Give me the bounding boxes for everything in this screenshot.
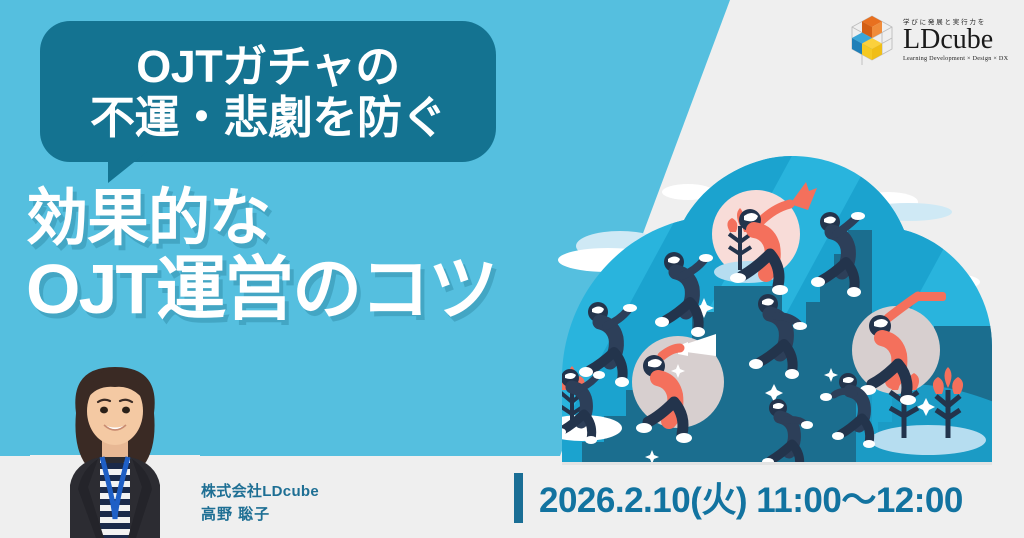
ldcube-logo: 学びに発展と実行力を LDcube Learning Development ×… <box>846 8 1008 70</box>
speech-bubble-text: OJTガチャの 不運・悲劇を防ぐ <box>40 21 496 162</box>
accent-rule <box>514 473 523 523</box>
banner-canvas: OJTガチャの 不運・悲劇を防ぐ 効果的な OJT運営のコツ <box>0 0 1024 538</box>
bubble-line-2: 不運・悲劇を防ぐ <box>90 95 446 140</box>
ldcube-logo-text: 学びに発展と実行力を LDcube Learning Development ×… <box>903 16 1008 63</box>
presenter-company: 株式会社LDcube <box>201 480 319 503</box>
ldcube-cube-logo-icon <box>846 13 898 65</box>
bubble-line-1: OJTガチャの <box>136 44 400 89</box>
schedule-bar: 2026.2.10(火) 11:00〜12:00 <box>514 472 963 523</box>
presenter-info: 株式会社LDcube 高野 聡子 <box>201 480 319 527</box>
speech-bubble: OJTガチャの 不運・悲劇を防ぐ <box>40 21 496 186</box>
logo-subtitle: Learning Development × Design × DX <box>903 55 1008 62</box>
page-title: 効果的な OJT運営のコツ <box>26 186 546 326</box>
headline-line-2: OJT運営のコツ <box>26 252 546 326</box>
headline-line-1: 効果的な <box>26 186 546 252</box>
hero-illustration <box>556 150 1024 470</box>
schedule-datetime: 2026.2.10(火) 11:00〜12:00 <box>539 472 963 523</box>
presenter-photo <box>30 355 200 538</box>
logo-name: LDcube <box>903 27 993 54</box>
presenter-name: 高野 聡子 <box>201 503 319 526</box>
